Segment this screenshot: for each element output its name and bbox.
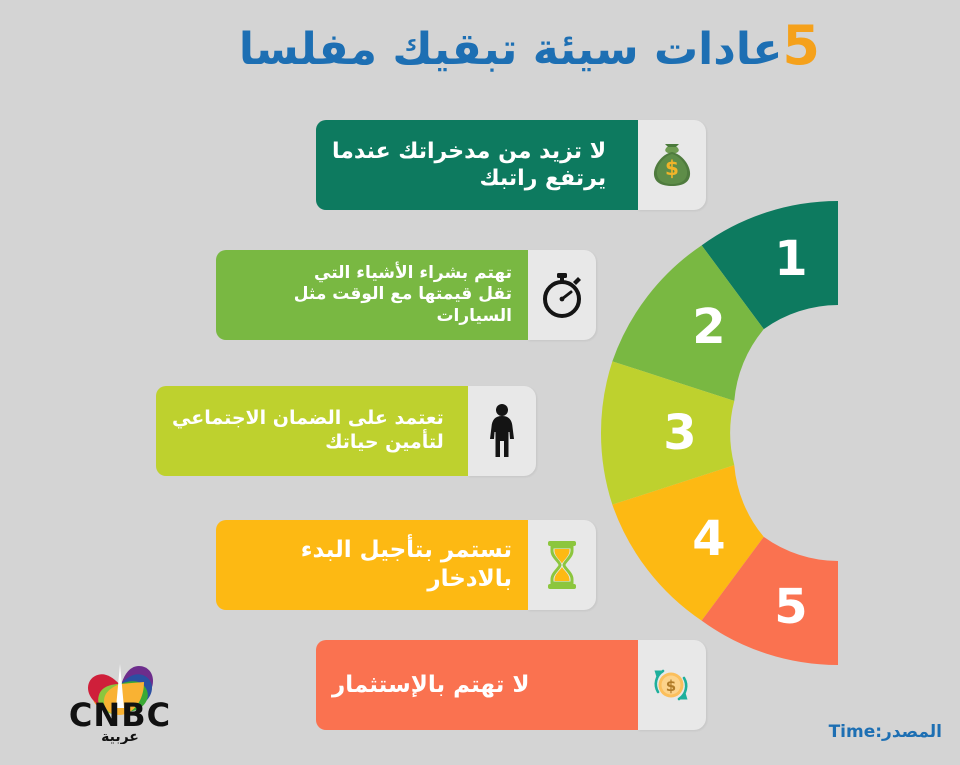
donut-label-2: 2: [692, 299, 725, 355]
habit-bar-1[interactable]: لا تزيد من مدخراتك عندما يرتفع راتبك $: [316, 120, 706, 210]
habit-text-2-line1: تهتم بشراء الأشياء التي: [232, 263, 512, 284]
habit-icon-box-4[interactable]: [528, 520, 596, 610]
hourglass-icon: [542, 539, 582, 591]
logo-subtitle-text: عربية: [101, 729, 139, 744]
habit-label-1: لا تزيد من مدخراتك عندما يرتفع راتبك: [316, 120, 638, 210]
habit-label-3: تعتمد على الضمان الاجتماعي لتأمين حياتك: [156, 386, 468, 476]
svg-text:$: $: [665, 156, 679, 180]
donut-label-3: 3: [663, 405, 696, 461]
habit-bar-2[interactable]: تهتم بشراء الأشياء التي تقل قيمتها مع ال…: [216, 250, 596, 340]
svg-text:$: $: [666, 677, 676, 695]
habit-text-1-line2: يرتفع راتبك: [332, 165, 606, 193]
stopwatch-icon: [540, 272, 584, 318]
coin-return-icon: $: [649, 662, 695, 708]
source-value: Time: [829, 722, 876, 742]
habit-icon-box-2[interactable]: [528, 250, 596, 340]
donut-label-1: 1: [774, 231, 807, 287]
title-text: عادات سيئة تبقيك مفلسا: [239, 24, 783, 75]
page-title: 5عادات سيئة تبقيك مفلسا: [0, 14, 820, 77]
habit-bar-3[interactable]: تعتمد على الضمان الاجتماعي لتأمين حياتك: [156, 386, 536, 476]
habit-icon-box-1[interactable]: $: [638, 120, 706, 210]
habit-bar-4[interactable]: تستمر بتأجيل البدء بالادخار: [216, 520, 596, 610]
infographic-canvas: 5عادات سيئة تبقيك مفلسا لا تزيد من مدخرا…: [0, 0, 960, 765]
cnbc-arabia-logo: CNBC عربية: [40, 634, 200, 744]
source-credit: المصدر:Time: [829, 722, 942, 742]
donut-label-5: 5: [774, 579, 807, 635]
habit-label-5: لا تهتم بالإستثمار: [316, 640, 638, 730]
habit-text-3-line1: تعتمد على الضمان الاجتماعي: [172, 407, 444, 431]
habit-icon-box-3[interactable]: [468, 386, 536, 476]
habit-label-4: تستمر بتأجيل البدء بالادخار: [216, 520, 528, 610]
habit-icon-box-5[interactable]: $: [638, 640, 706, 730]
habit-bar-5[interactable]: لا تهتم بالإستثمار $: [316, 640, 706, 730]
title-number: 5: [782, 14, 820, 77]
habit-text-5-line1: لا تهتم بالإستثمار: [332, 671, 529, 700]
person-icon: [485, 403, 519, 459]
habit-text-3-line2: لتأمين حياتك: [172, 431, 444, 455]
source-label: المصدر:: [875, 722, 942, 742]
habit-text-4-line1: تستمر بتأجيل البدء بالادخار: [232, 536, 512, 594]
money-bag-icon: $: [650, 142, 694, 188]
donut-label-4: 4: [692, 511, 725, 567]
donut-chart: 1 2 3 4 5: [596, 196, 846, 670]
habit-text-1-line1: لا تزيد من مدخراتك عندما: [332, 138, 606, 166]
habit-label-2: تهتم بشراء الأشياء التي تقل قيمتها مع ال…: [216, 250, 528, 340]
habit-text-2-line2: تقل قيمتها مع الوقت مثل السيارات: [232, 284, 512, 327]
